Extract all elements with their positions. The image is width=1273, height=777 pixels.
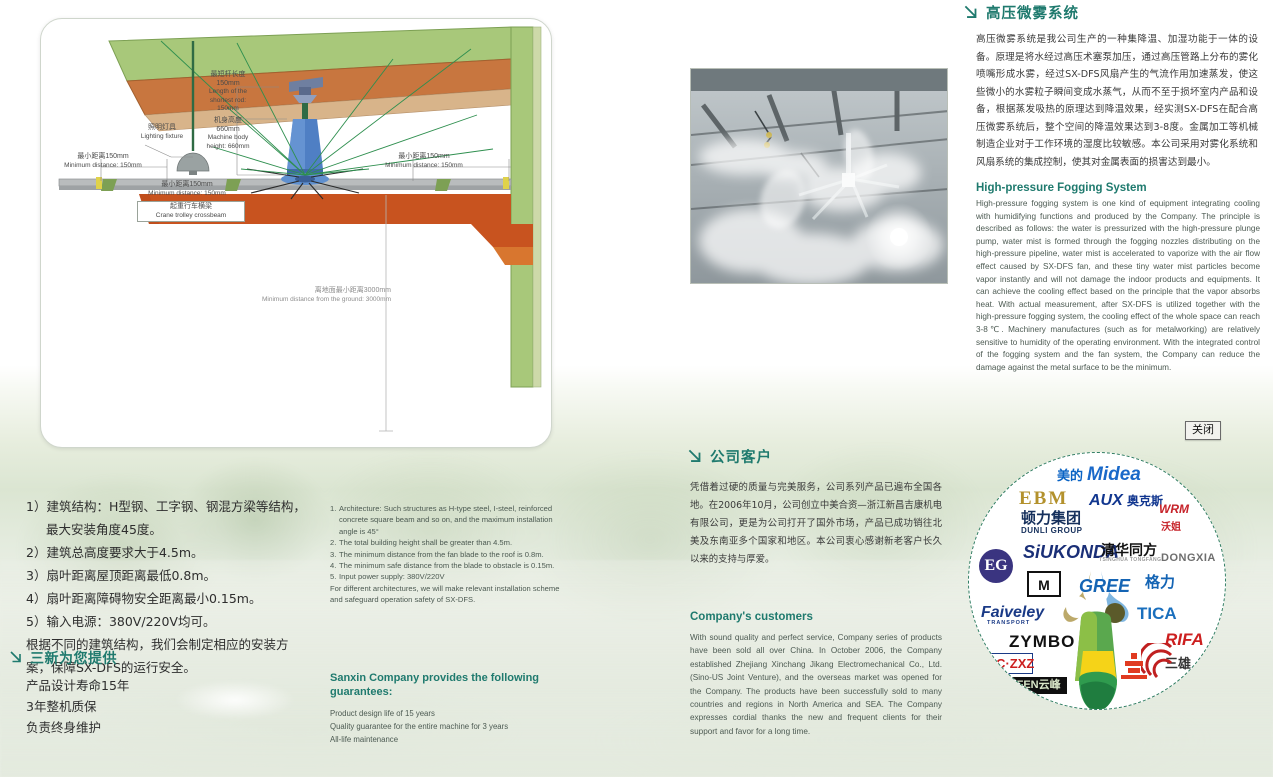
spec-closing-paragraph: For different architectures, we will mak…	[330, 583, 562, 606]
list-item: 3年整机质保	[26, 696, 328, 717]
logo-eg: EG	[979, 549, 1013, 583]
client-logos-circle: 美的 Midea EBM AUX 奥克斯 WRM 顿力集团 DUNLI GROU…	[968, 452, 1226, 710]
logo-m: M	[1027, 571, 1061, 597]
logo-aux: AUX	[1089, 493, 1123, 509]
customers-section: 公司客户 凭借着过硬的质量与完美服务，公司系列产品已遍布全国各地。在2006年1…	[686, 446, 952, 738]
arrow-down-right-icon	[8, 649, 24, 669]
list-item: 负责终身维护	[26, 717, 328, 738]
logo-dunli-en: DUNLI GROUP	[1021, 527, 1083, 535]
diagram-label-min-distance-left: 最小距离150mmMinimum distance: 150mm	[55, 153, 151, 170]
customers-title-cn: 公司客户	[686, 446, 952, 469]
provide-section: 三新为您提供 产品设计寿命15年 3年整机质保 负责终身维护	[8, 648, 328, 738]
logo-ebm: EBM	[1019, 489, 1068, 508]
guarantee-section: Sanxin Company provides the following gu…	[330, 671, 562, 746]
logo-gree-cn: 格力	[1145, 575, 1175, 590]
installation-diagram-card: 照明灯具Lighting fixture 最短杆长度 150mmLength o…	[40, 18, 552, 448]
spec-item: 4.The minimum safe distance from the bla…	[330, 560, 562, 571]
fogging-title-en: High-pressure Fogging System	[976, 182, 1260, 194]
fogging-title-cn: 高压微雾系统	[962, 2, 1260, 25]
logo-tsinghua-tongfang-cn: 清华同方	[1101, 543, 1157, 557]
customers-title-en: Company's customers	[690, 611, 952, 623]
logo-wrm: WRM	[1159, 503, 1189, 515]
logo-ufen: U·FEN云峰	[999, 677, 1067, 694]
arrow-down-right-icon	[686, 447, 704, 469]
provide-title: 三新为您提供	[8, 648, 328, 669]
diagram-label-lighting-fixture: 照明灯具Lighting fixture	[131, 124, 193, 141]
spec-item: 3）扇叶距离屋顶距离最低0.8m。	[26, 564, 326, 587]
guarantee-list: Product design life of 15 years Quality …	[330, 707, 562, 746]
list-item: Quality guarantee for the entire machine…	[330, 720, 562, 733]
logo-dunli-cn: 顿力集团	[1021, 511, 1081, 526]
logo-tsinghua-tongfang-en: TSINGHUA TONGFANG	[1099, 558, 1161, 563]
list-item: 产品设计寿命15年	[26, 675, 328, 696]
fogging-body-en: High-pressure fogging system is one kind…	[976, 198, 1260, 374]
installation-diagram	[41, 19, 552, 448]
specs-english-list: 1.Architecture: Such structures as H-typ…	[330, 503, 562, 606]
spec-item: 5）输入电源：380V/220V均可。	[26, 610, 326, 633]
diagram-label-min-distance-crane: 最小距离150mmMinimum distance: 150mm	[129, 181, 245, 198]
diagram-label-min-distance-right: 最小距离150mmMinimum distance: 150mm	[371, 153, 477, 170]
spec-item: 3.The minimum distance from the fan blad…	[330, 549, 562, 560]
logo-tica: TICA	[1137, 605, 1177, 622]
spec-item-cont: 最大安装角度45度。	[26, 518, 326, 541]
spec-item: 2）建筑总高度要求大于4.5m。	[26, 541, 326, 564]
close-button[interactable]: 关闭	[1185, 421, 1221, 440]
logo-midea-cn: 美的	[1057, 469, 1083, 482]
diagram-label-crane-crossbeam: 起重行车横梁Crane trolley crossbeam	[137, 201, 245, 222]
fogging-workshop-photo	[690, 68, 948, 284]
spec-item: 1）建筑结构：H型钢、工字钢、钢混方梁等结构，	[26, 495, 326, 518]
customers-body-cn: 凭借着过硬的质量与完美服务，公司系列产品已遍布全国各地。在2006年10月，公司…	[690, 479, 942, 569]
customers-body-en: With sound quality and perfect service, …	[690, 631, 942, 738]
logo-xcc-zxz: XCC·ZXZ	[973, 653, 1033, 674]
red-tower-icon	[1117, 649, 1151, 683]
spec-item: 4）扇叶距离障碍物安全距离最小0.15m。	[26, 587, 326, 610]
provide-list: 产品设计寿命15年 3年整机质保 负责终身维护	[26, 675, 328, 738]
logo-woju: 沃姐	[1161, 523, 1181, 533]
spec-item: 5.Input power supply: 380V/220V	[330, 571, 562, 582]
logo-faiveley-transport: TRANSPORT	[987, 621, 1030, 627]
fogging-body-cn: 高压微雾系统是我公司生产的一种集降温、加湿功能于一体的设备。原理是将水经过高压术…	[976, 31, 1258, 171]
arrow-down-right-icon	[962, 3, 980, 25]
logo-zymbo: ZYMBO	[1009, 633, 1075, 650]
logo-dongxia: DONGXIA	[1161, 553, 1216, 564]
logo-gree: GREE	[1079, 577, 1130, 595]
logo-aux-cn: 奥克斯	[1127, 495, 1163, 507]
fogging-system-section: 高压微雾系统 高压微雾系统是我公司生产的一种集降温、加湿功能于一体的设备。原理是…	[960, 2, 1260, 374]
spec-item: 2.The total building height shall be gre…	[330, 537, 562, 548]
diagram-label-machine-height: 机身高度 660mmMachine body height: 660mm	[197, 117, 259, 151]
diagram-label-shortest-rod: 最短杆长度 150mmLength of the shortest rod: 1…	[197, 71, 259, 114]
logo-faiveley: Faiveley	[981, 605, 1044, 621]
spec-item: 1.Architecture: Such structures as H-typ…	[330, 503, 562, 537]
list-item: Product design life of 15 years	[330, 707, 562, 720]
list-item: All-life maintenance	[330, 733, 562, 746]
guarantee-title: Sanxin Company provides the following gu…	[330, 671, 562, 699]
logo-midea: Midea	[1087, 465, 1141, 484]
diagram-label-ground-distance: 离地面最小距离3000mmMinimum distance from the g…	[201, 287, 391, 304]
